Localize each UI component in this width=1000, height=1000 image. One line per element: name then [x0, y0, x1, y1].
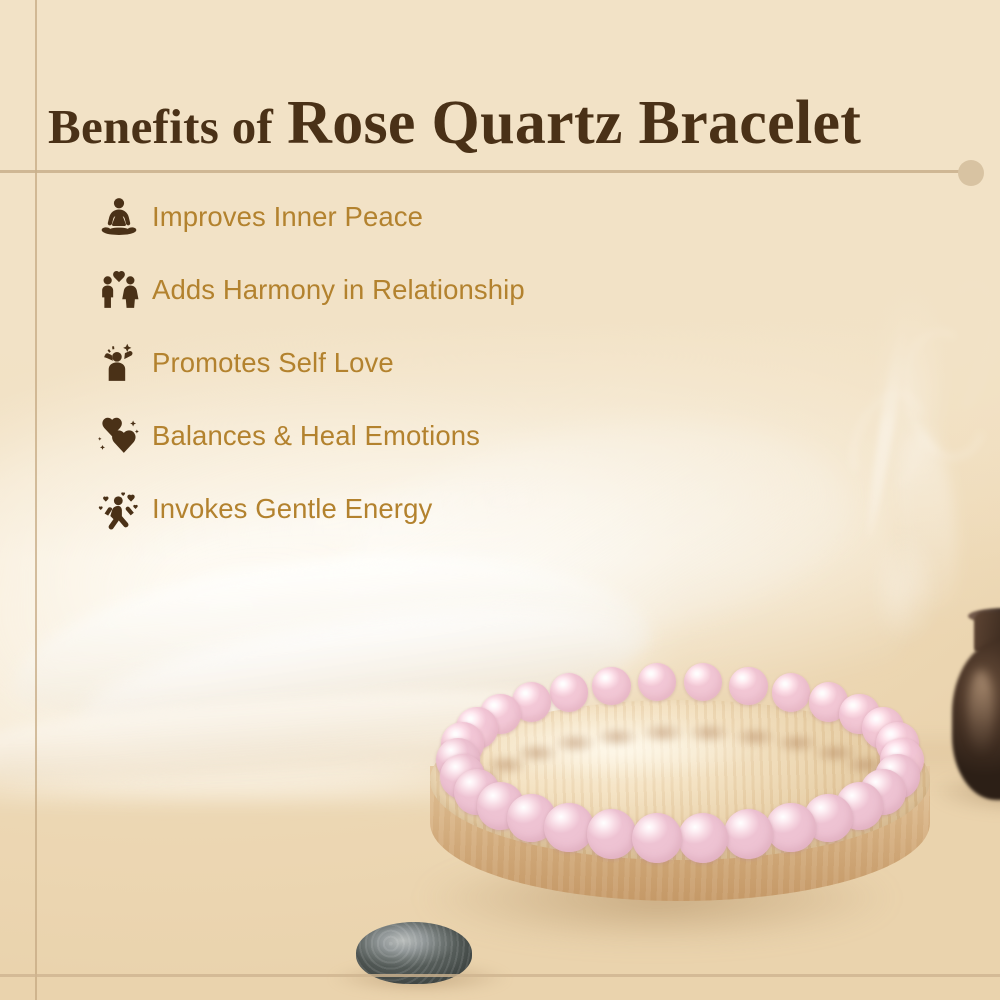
- quartz-bead: [729, 667, 767, 705]
- benefit-item-1: Improves Inner Peace: [86, 180, 706, 253]
- quartz-bead: [638, 663, 676, 701]
- rose-quartz-bracelet: [430, 660, 930, 860]
- benefit-item-4: Balances & Heal Emotions: [86, 399, 706, 472]
- frame-bottom-rule: [0, 974, 1000, 977]
- benefit-item-label: Improves Inner Peace: [152, 201, 423, 233]
- benefit-item-5: Invokes Gentle Energy: [86, 472, 706, 545]
- bead-shadow: [641, 722, 685, 744]
- benefit-item-label: Invokes Gentle Energy: [152, 493, 432, 525]
- quartz-bead: [550, 673, 589, 712]
- frame-vertical-rule: [35, 0, 37, 1000]
- meditation-lotus-icon: [86, 195, 152, 239]
- quartz-bead: [684, 663, 722, 701]
- bead-shadow: [733, 726, 777, 748]
- incense-vessel: [952, 612, 1000, 812]
- benefit-item-label: Balances & Heal Emotions: [152, 420, 480, 452]
- bead-shadow: [687, 722, 731, 744]
- bead-shadow: [553, 732, 597, 754]
- quartz-bead: [724, 809, 774, 859]
- quartz-bead: [587, 809, 637, 859]
- bead-shadow: [595, 726, 639, 748]
- two-hearts-sparkle-icon: [86, 414, 152, 458]
- incense-vessel-sheen: [968, 670, 994, 756]
- benefits-list: Improves Inner PeaceAdds Harmony in Rela…: [86, 180, 706, 545]
- benefit-item-label: Adds Harmony in Relationship: [152, 274, 525, 306]
- poster-canvas: Benefits ofRose Quartz Bracelet Improves…: [0, 0, 1000, 1000]
- quartz-bead: [772, 673, 811, 712]
- quartz-bead: [592, 667, 630, 705]
- quartz-bead: [632, 813, 682, 863]
- benefit-item-label: Promotes Self Love: [152, 347, 394, 379]
- quartz-bead: [678, 813, 728, 863]
- title-divider-rule: [0, 170, 966, 173]
- benefit-item-2: Adds Harmony in Relationship: [86, 253, 706, 326]
- page-title: Benefits ofRose Quartz Bracelet: [48, 92, 968, 154]
- jumping-person-hearts-icon: [86, 487, 152, 531]
- divider-end-dot: [958, 160, 984, 186]
- benefit-item-3: Promotes Self Love: [86, 326, 706, 399]
- title-product: Rose Quartz Bracelet: [287, 89, 861, 157]
- couple-heart-icon: [86, 268, 152, 312]
- person-raised-arms-star-icon: [86, 341, 152, 385]
- quartz-bead: [766, 803, 815, 852]
- quartz-bead: [544, 803, 593, 852]
- title-prefix: Benefits of: [48, 99, 273, 154]
